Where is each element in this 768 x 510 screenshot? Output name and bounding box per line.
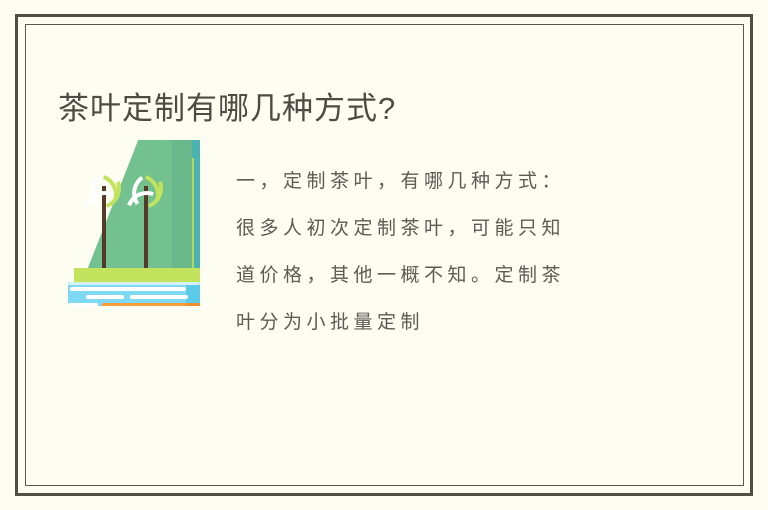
illustration-wave-line (70, 287, 186, 291)
beach-island-illustration (60, 140, 212, 306)
article-body-line: 道价格，其他一概不知。定制茶 (236, 252, 666, 299)
article-content: 一，定制茶叶，有哪几种方式： 很多人初次定制茶叶，可能只知 道价格，其他一概不知… (58, 139, 698, 369)
article-body: 一，定制茶叶，有哪几种方式： 很多人初次定制茶叶，可能只知 道价格，其他一概不知… (236, 158, 666, 346)
illustration-sand-shade (186, 303, 200, 306)
article-body-line: 叶分为小批量定制 (236, 299, 666, 346)
page-title: 茶叶定制有哪几种方式? (58, 87, 396, 131)
page-canvas: 茶叶定制有哪几种方式? (0, 0, 768, 510)
illustration-wave-line (130, 295, 188, 299)
article-body-line: 一，定制茶叶，有哪几种方式： (236, 158, 666, 205)
illustration-shoreline-band (74, 268, 200, 282)
article-body-line: 很多人初次定制茶叶，可能只知 (236, 205, 666, 252)
illustration-wave-line (86, 295, 124, 299)
illustration-water-highlight (68, 282, 200, 285)
illustration-wave-line (68, 303, 98, 306)
illustration-hill-shade (172, 140, 192, 288)
